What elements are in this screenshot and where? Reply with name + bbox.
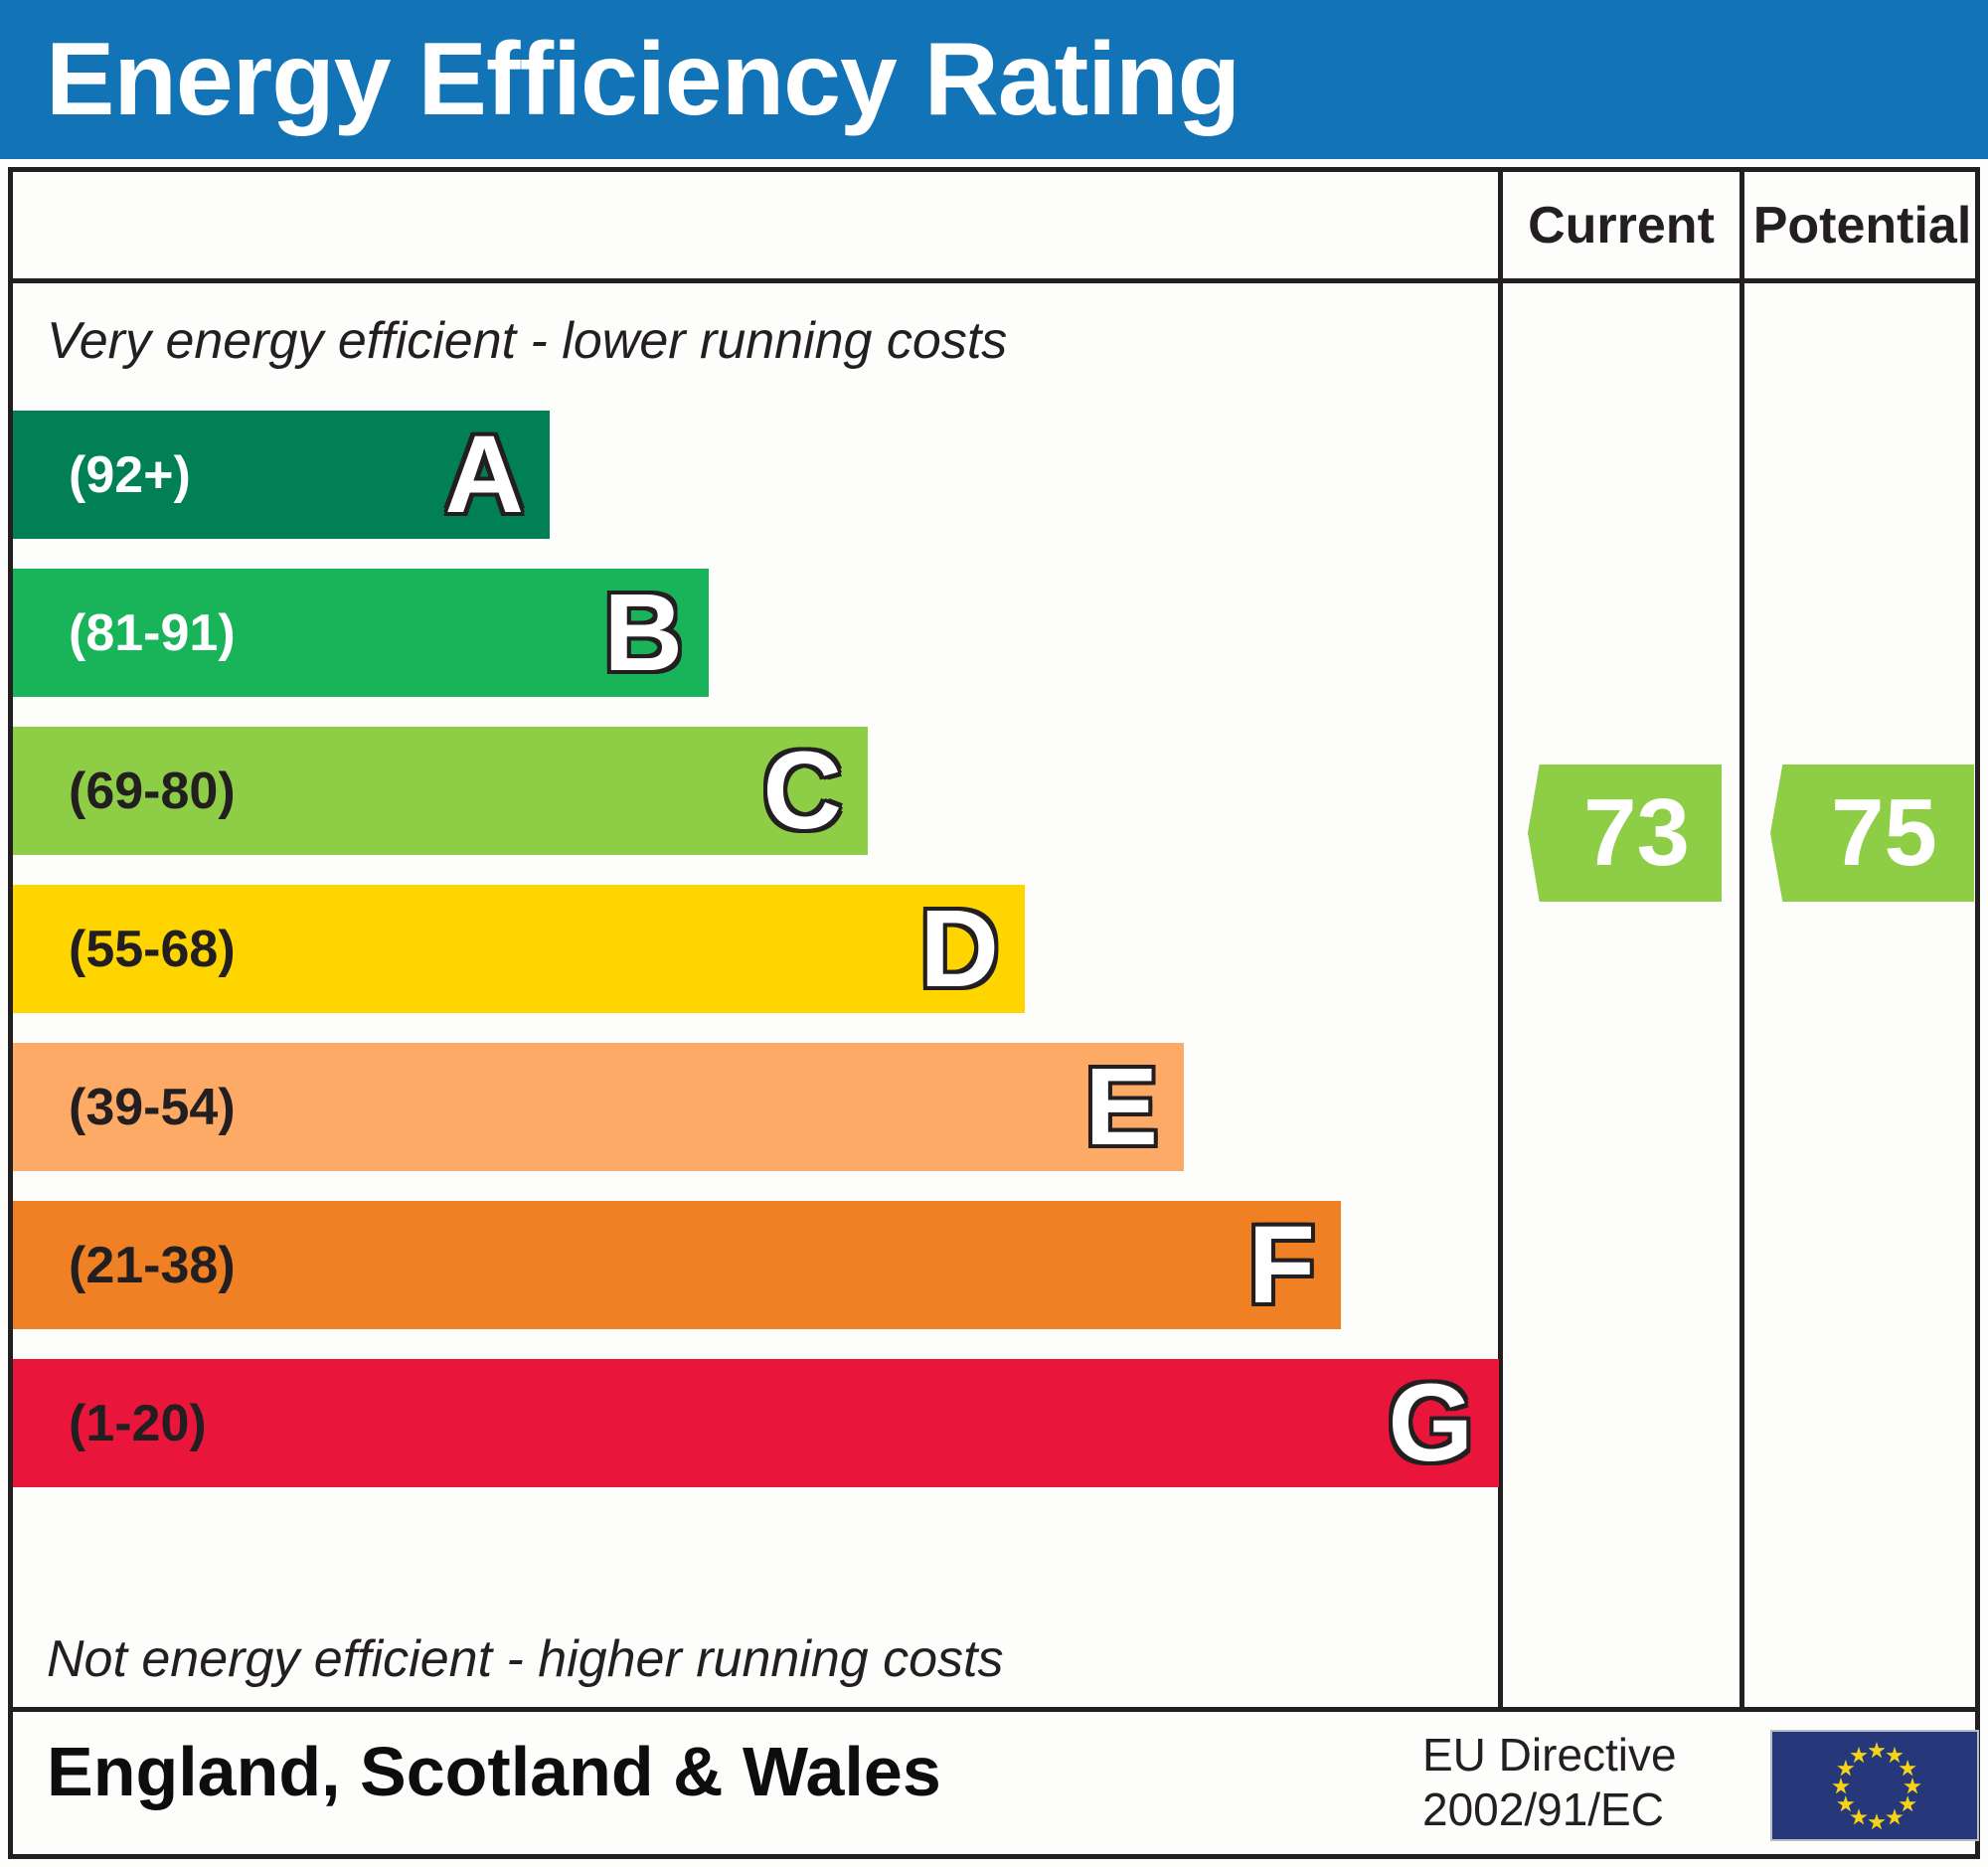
column-header-current: Current: [1498, 172, 1739, 278]
potential-rating-badge: 75: [1770, 764, 1974, 902]
eu-flag-star: [1837, 1795, 1855, 1813]
band-f: (21-38)F: [13, 1201, 1341, 1329]
eu-flag-star: [1899, 1795, 1916, 1813]
title-bar: Energy Efficiency Rating: [0, 0, 1988, 159]
band-letter-e: E: [1085, 1053, 1158, 1162]
band-range-e: (39-54): [69, 1078, 236, 1137]
column-divider-right: [1739, 283, 1744, 1707]
column-divider-left: [1498, 283, 1503, 1707]
footer-directive-label: EU Directive 2002/91/EC: [1422, 1728, 1677, 1837]
footer-region-label: England, Scotland & Wales: [47, 1732, 941, 1811]
band-d: (55-68)D: [13, 885, 1025, 1013]
rating-table: Current Potential Very energy efficient …: [8, 167, 1980, 1859]
column-header-row: Current Potential: [13, 172, 1975, 283]
eu-flag-star: [1868, 1813, 1886, 1831]
eu-flag-icon: [1770, 1730, 1979, 1841]
band-c: (69-80)C: [13, 727, 868, 855]
band-letter-g: G: [1388, 1369, 1473, 1478]
band-range-c: (69-80): [69, 762, 236, 821]
footer-row: England, Scotland & Wales EU Directive 2…: [13, 1707, 1975, 1854]
column-header-potential: Potential: [1739, 172, 1980, 278]
band-g: (1-20)G: [13, 1359, 1499, 1487]
band-letter-b: B: [604, 579, 683, 688]
eu-flag-star: [1837, 1760, 1855, 1778]
eu-flag-star: [1886, 1747, 1904, 1765]
band-letter-d: D: [920, 895, 999, 1004]
current-rating-badge: 73: [1528, 764, 1722, 902]
band-letter-f: F: [1248, 1211, 1315, 1320]
band-letter-a: A: [445, 421, 524, 530]
caption-efficient: Very energy efficient - lower running co…: [47, 311, 1007, 371]
directive-line-1: EU Directive: [1422, 1728, 1677, 1782]
band-e: (39-54)E: [13, 1043, 1184, 1171]
band-range-g: (1-20): [69, 1394, 207, 1453]
band-range-b: (81-91): [69, 603, 236, 663]
eu-flag-star: [1850, 1808, 1868, 1826]
eu-flag-star: [1899, 1760, 1916, 1778]
eu-flag-star: [1832, 1778, 1850, 1795]
eu-flag-star: [1886, 1808, 1904, 1826]
page-title: Energy Efficiency Rating: [46, 22, 1240, 137]
directive-line-2: 2002/91/EC: [1422, 1782, 1677, 1837]
band-range-f: (21-38): [69, 1236, 236, 1295]
band-range-a: (92+): [69, 445, 191, 505]
band-a: (92+)A: [13, 411, 550, 539]
caption-inefficient: Not energy efficient - higher running co…: [47, 1629, 1004, 1689]
energy-efficiency-rating-certificate: Energy Efficiency Rating Current Potenti…: [0, 0, 1988, 1867]
band-letter-c: C: [763, 737, 842, 846]
eu-flag-star: [1868, 1742, 1886, 1760]
band-b: (81-91)B: [13, 569, 709, 697]
bands-area: Very energy efficient - lower running co…: [13, 283, 1498, 1707]
band-range-d: (55-68): [69, 920, 236, 979]
eu-flag-star: [1904, 1778, 1921, 1795]
eu-flag-star: [1850, 1747, 1868, 1765]
